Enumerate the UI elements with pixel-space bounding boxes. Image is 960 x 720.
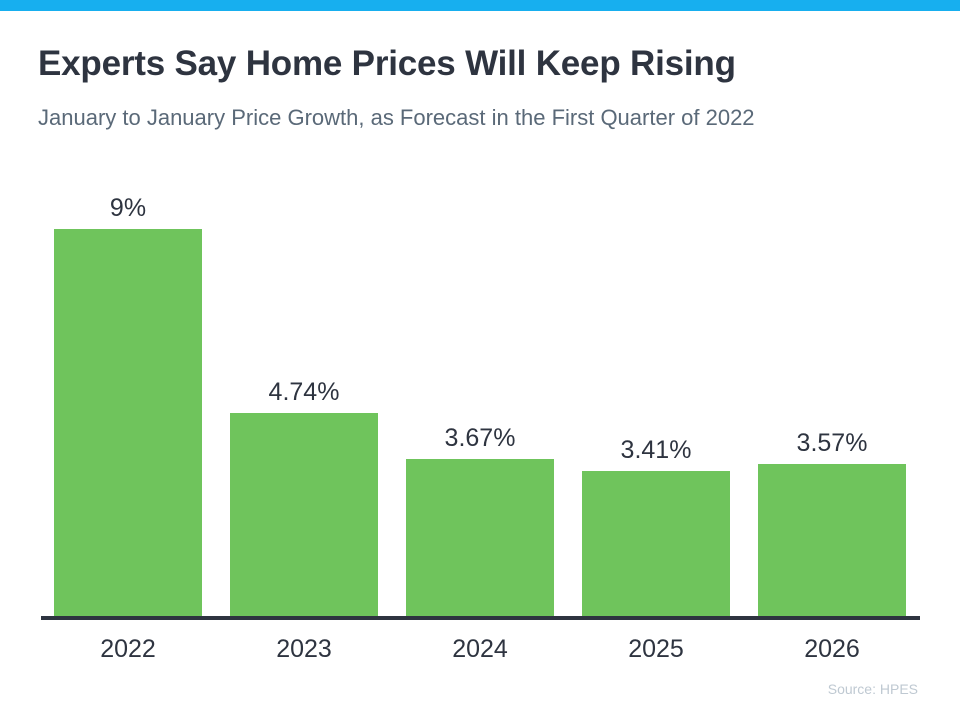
x-axis-line <box>41 616 920 620</box>
bar-value-2022: 9% <box>34 193 222 223</box>
x-tick-label-2025: 2025 <box>562 634 750 664</box>
x-tick-label-2023: 2023 <box>210 634 398 664</box>
source-note: Source: HPES <box>828 681 918 697</box>
bar-2022 <box>54 229 202 618</box>
x-tick-label-2024: 2024 <box>386 634 574 664</box>
bar-value-2026: 3.57% <box>738 428 926 458</box>
bar-2025 <box>582 471 730 618</box>
bar-value-2023: 4.74% <box>210 377 398 407</box>
x-tick-label-2026: 2026 <box>738 634 926 664</box>
bar-2024 <box>406 459 554 618</box>
bar-2023 <box>230 413 378 618</box>
infographic-canvas: Experts Say Home Prices Will Keep Rising… <box>0 0 960 720</box>
bar-chart: 9% 2022 4.74% 2023 3.67% 2024 3.41% 2025… <box>0 0 960 720</box>
bar-2026 <box>758 464 906 618</box>
bar-value-2025: 3.41% <box>562 435 750 465</box>
x-tick-label-2022: 2022 <box>34 634 222 664</box>
bar-value-2024: 3.67% <box>386 423 574 453</box>
